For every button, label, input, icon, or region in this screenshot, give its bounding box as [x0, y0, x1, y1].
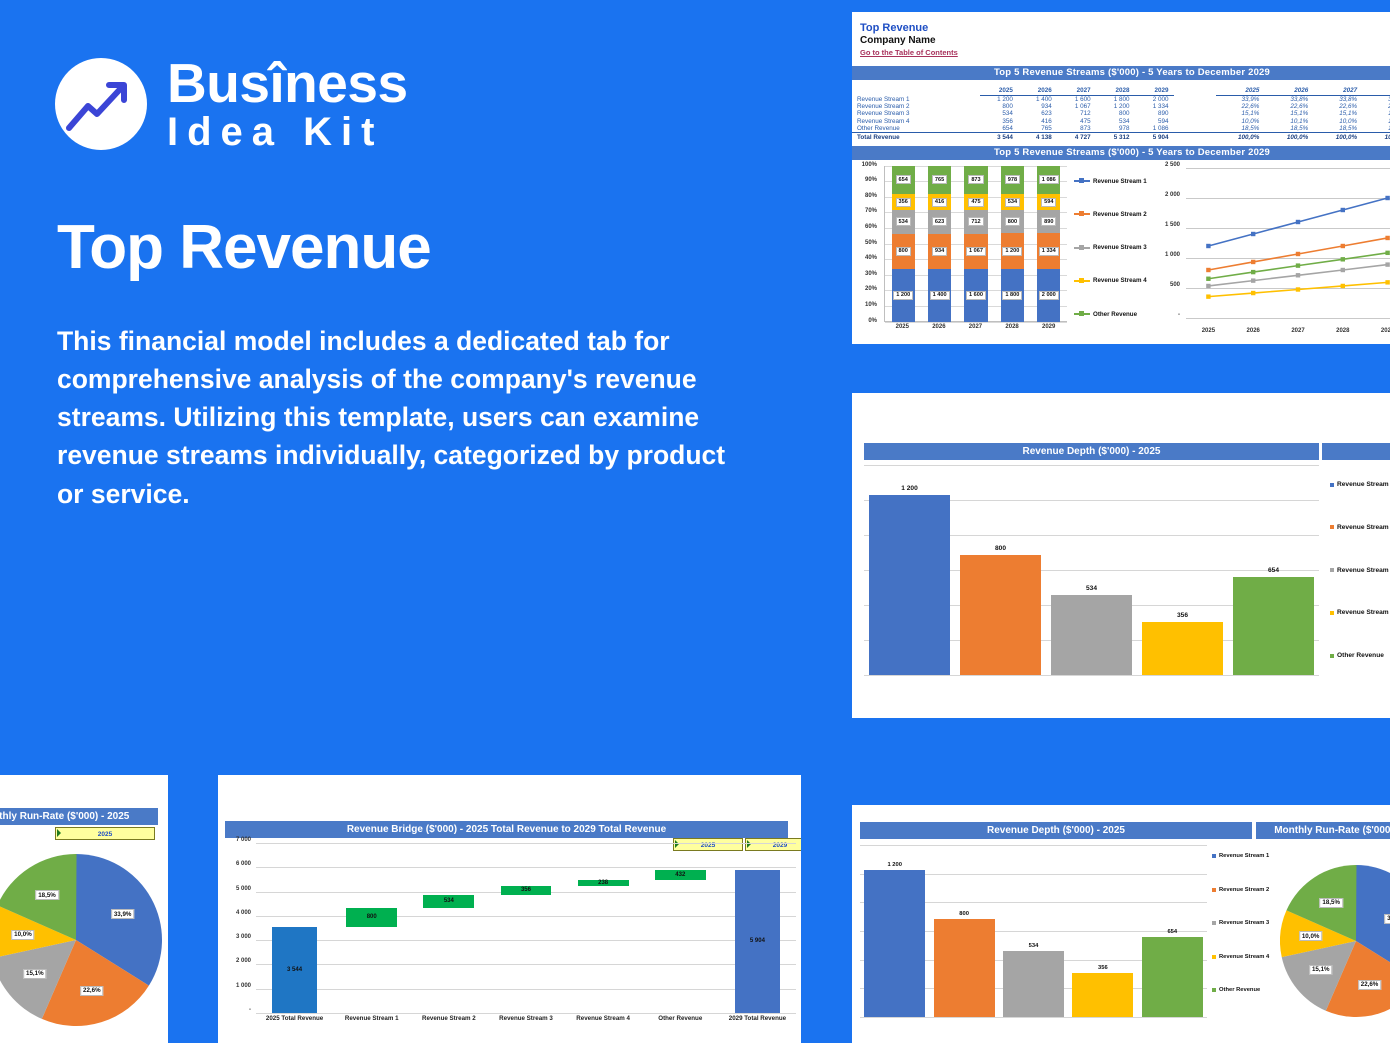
legend-label: Revenue Stream 2: [1093, 211, 1147, 218]
cell: 1 067: [1058, 103, 1097, 110]
y-tick-label: 1 500: [1165, 222, 1180, 228]
stack-segment: 873: [964, 166, 987, 195]
legend-item: Revenue Stream 3: [1212, 920, 1284, 926]
bar-value-label: 654: [1228, 567, 1319, 574]
table-row: Revenue Stream 1 1 200 1 400 1 600 1 800…: [852, 95, 1390, 103]
legend-label: Revenue Stream 4: [1337, 609, 1390, 616]
sheet-title: Top Revenue: [860, 22, 1390, 35]
y-tick-label: 10%: [865, 302, 877, 308]
stack-segment: 1 200: [892, 269, 915, 322]
segment-value-label: 2 000: [1039, 291, 1059, 300]
cell-pct: 33,9%: [1216, 95, 1265, 103]
segment-value-label: 800: [896, 247, 911, 256]
row-label: Other Revenue: [852, 125, 980, 133]
gridline: [256, 964, 796, 965]
revenue-depth-chart-mid: 1 200800534356654: [864, 465, 1319, 675]
growth-chart-arrow-icon: [55, 58, 147, 150]
table-row: Other Revenue 654 765 873 978 1 086 18,5…: [852, 125, 1390, 133]
legend-item: Revenue Stream 3: [1074, 244, 1152, 251]
bar: [1051, 595, 1131, 675]
segment-value-label: 594: [1041, 198, 1056, 207]
pie-slice-label: 10,0%: [11, 930, 35, 940]
pie-svg: [0, 854, 162, 1026]
legend-label: Other Revenue: [1219, 987, 1260, 993]
cell: 475: [1058, 118, 1097, 125]
stack-segment: 594: [1037, 194, 1060, 210]
bar-value-label: 800: [955, 545, 1046, 552]
waterfall-bar: 5 904: [735, 870, 780, 1013]
col-year: 2025: [980, 87, 1019, 96]
total-cell: 5 904: [1136, 133, 1175, 142]
y-tick-label: 40%: [865, 255, 877, 261]
waterfall-bar: 432: [655, 870, 706, 880]
x-tick-label: 2026: [1231, 328, 1276, 340]
cell: 1 334: [1136, 103, 1175, 110]
cell-pct: 22,6%: [1216, 103, 1265, 110]
legend-line-marker: [1074, 280, 1090, 282]
waterfall-value-label: 5 904: [750, 938, 765, 944]
y-tick-label: -: [1178, 312, 1180, 318]
segment-value-label: 1 067: [966, 247, 986, 256]
revenue-depth-title: Revenue Depth ($'000) - 2025: [864, 443, 1319, 460]
pie-slice-label: 33,9%: [111, 909, 135, 919]
stack-segment: 934: [928, 234, 951, 269]
x-tick-label: 2028: [994, 324, 1031, 336]
cell: 534: [1097, 118, 1136, 125]
revenue-streams-table: 2025 2026 2027 2028 2029 2025 2026 2027 …: [852, 87, 1390, 142]
legend-item: Revenue Stream 4: [1074, 277, 1152, 284]
table-header-row: 2025 2026 2027 2028 2029 2025 2026 2027 …: [852, 87, 1390, 96]
segment-value-label: 712: [968, 217, 983, 226]
y-tick-label: -: [249, 1007, 251, 1013]
y-tick-label: 80%: [865, 193, 877, 199]
cell-pct: 18,5%: [1265, 125, 1314, 133]
cell: 623: [1019, 110, 1058, 117]
stack-segment: 800: [1001, 210, 1024, 233]
cell: 978: [1097, 125, 1136, 133]
legend-swatch: [1212, 988, 1216, 992]
segment-value-label: 654: [896, 175, 911, 184]
row-label: Revenue Stream 4: [852, 118, 980, 125]
revenue-depth-legend-bottom: Revenue Stream 1Revenue Stream 2Revenue …: [1212, 853, 1284, 993]
legend-swatch: [1212, 955, 1216, 959]
revenue-bridge-title: Revenue Bridge ($'000) - 2025 Total Reve…: [225, 821, 788, 838]
total-cell-pct: 100,0%: [1314, 133, 1363, 142]
bar: [864, 870, 925, 1017]
y-tick-label: 20%: [865, 286, 877, 292]
bar: [960, 555, 1040, 675]
legend-marker-dot: [1079, 178, 1084, 183]
y-tick-label: 0%: [868, 318, 877, 324]
gridline: [860, 845, 1207, 846]
col-year: 2029: [1136, 87, 1175, 96]
stacked-chart-x-axis: 20252026202720282029: [884, 324, 1067, 336]
waterfall-value-label: 356: [521, 887, 531, 893]
legend-item: Other Revenue: [1074, 311, 1152, 318]
legend-item: Revenue Stream 1: [1074, 178, 1152, 185]
page-description: This financial model includes a dedicate…: [57, 322, 757, 513]
cell: 356: [980, 118, 1019, 125]
x-tick-label: 2027: [957, 324, 994, 336]
legend-swatch: [1330, 525, 1334, 529]
legend-swatch: [1212, 854, 1216, 858]
legend-line-marker: [1074, 313, 1090, 315]
stack-segment: 800: [892, 234, 915, 269]
panel-revenue-bridge: Revenue Bridge ($'000) - 2025 Total Reve…: [218, 775, 801, 1043]
cell: 534: [980, 110, 1019, 117]
bar: [1142, 622, 1222, 675]
gridline: [864, 675, 1319, 676]
segment-value-label: 356: [896, 198, 911, 207]
waterfall-value-label: 534: [444, 898, 454, 904]
brand-name-primary: Busîness: [167, 55, 408, 111]
stack-segment: 416: [928, 194, 951, 210]
legend-label: Other Revenue: [1093, 311, 1137, 318]
col-year: 2026: [1019, 87, 1058, 96]
cell: 1 086: [1136, 125, 1175, 133]
y-tick-label: 1 000: [236, 983, 251, 989]
x-tick-label: Revenue Stream 3: [487, 1015, 564, 1027]
cell-pct: 10,0%: [1314, 118, 1363, 125]
row-label: Revenue Stream 2: [852, 103, 980, 110]
slide-root: Busîness Idea Kit Top Revenue This finan…: [0, 0, 1390, 1043]
cell: 654: [980, 125, 1019, 133]
segment-value-label: 1 086: [1039, 175, 1059, 184]
cell: 800: [980, 103, 1019, 110]
waterfall-bar: 3 544: [272, 927, 317, 1013]
legend-item: Revenue Stream 2: [1212, 887, 1284, 893]
brand-name-secondary: Idea Kit: [167, 111, 408, 153]
x-tick-label: Revenue Stream 4: [565, 1015, 642, 1027]
monthly-run-rate-pie-left: 33,9%22,6%15,1%10,0%18,5%: [0, 854, 162, 1026]
stack-column: 1 0865948901 3342 000: [1037, 166, 1060, 322]
gridline: [1186, 318, 1390, 319]
segment-value-label: 1 200: [893, 291, 913, 300]
legend-item: Revenue Stream 4: [1330, 609, 1390, 616]
trend-line-chart: [1186, 168, 1390, 326]
gridline: [256, 940, 796, 941]
panel-monthly-run-rate-left: Monthly Run-Rate ($'000) - 2025 2025 33,…: [0, 775, 168, 1043]
cell-pct: 15,1%: [1265, 110, 1314, 117]
gridline: [256, 989, 796, 990]
legend-item: Revenue Stream 2: [1330, 524, 1390, 531]
y-tick-label: 90%: [865, 177, 877, 183]
segment-value-label: 416: [932, 198, 947, 207]
gridline: [256, 843, 796, 844]
waterfall-bar: 356: [501, 886, 552, 895]
cell: 2 000: [1136, 95, 1175, 103]
stack-segment: 534: [1001, 194, 1024, 210]
bridge-chart-x-axis: 2025 Total RevenueRevenue Stream 1Revenu…: [256, 1015, 796, 1027]
year-selector-left[interactable]: 2025: [55, 827, 155, 840]
legend-line-marker: [1074, 247, 1090, 249]
segment-value-label: 800: [1005, 217, 1020, 226]
y-tick-label: 1 000: [1165, 252, 1180, 258]
x-tick-label: Other Revenue: [642, 1015, 719, 1027]
legend-label: Revenue Stream 2: [1337, 524, 1390, 531]
x-tick-label: Revenue Stream 1: [333, 1015, 410, 1027]
segment-value-label: 534: [1005, 198, 1020, 207]
legend-item: Revenue Stream 1: [1330, 481, 1390, 488]
legend-item: Other Revenue: [1330, 652, 1390, 659]
legend-swatch: [1212, 888, 1216, 892]
revenue-bridge-waterfall-chart: 3 5448005343562384325 904: [256, 843, 796, 1013]
stack-segment: 1 334: [1037, 233, 1060, 268]
legend-label: Revenue Stream 3: [1337, 567, 1390, 574]
x-tick-label: Revenue Stream 2: [410, 1015, 487, 1027]
segment-value-label: 978: [1005, 175, 1020, 184]
y-tick-label: 2 500: [1165, 162, 1180, 168]
revenue-depth-chart-bottom: 1 200800534356654: [860, 845, 1207, 1017]
bar: [1142, 937, 1203, 1017]
page-title: Top Revenue: [57, 212, 431, 283]
cell-pct: 22,6%: [1314, 103, 1363, 110]
panel-revenue-depth: Revenue Depth ($'000) - 2025 1 200800534…: [852, 393, 1390, 718]
cell: 873: [1058, 125, 1097, 133]
legend-line-marker: [1074, 180, 1090, 182]
stack-segment: 1 600: [964, 269, 987, 322]
gridline: [256, 1013, 796, 1014]
total-cell: 3 544: [980, 133, 1019, 142]
bar-value-label: 356: [1137, 612, 1228, 619]
col-year: 2028: [1097, 87, 1136, 96]
pie-slice-label: 33,9%: [1384, 914, 1390, 924]
legend-line-marker: [1074, 213, 1090, 215]
col-pct-year: 2028: [1363, 87, 1390, 96]
y-tick-label: 100%: [862, 162, 877, 168]
legend-swatch: [1330, 611, 1334, 615]
bar: [1003, 951, 1064, 1017]
monthly-run-rate-title-right: Monthly Run-Rate ($'000): [1256, 822, 1390, 839]
x-tick-label: 2028: [1320, 328, 1365, 340]
x-tick-label: 2029: [1030, 324, 1067, 336]
legend-item: Other Revenue: [1212, 987, 1284, 993]
y-tick-label: 7 000: [236, 837, 251, 843]
col-pct-year: 2026: [1265, 87, 1314, 96]
table-band-title: Top 5 Revenue Streams ($'000) - 5 Years …: [852, 66, 1390, 80]
col-pct-year: 2027: [1314, 87, 1363, 96]
x-tick-label: 2025 Total Revenue: [256, 1015, 333, 1027]
pie-slice-label: 18,5%: [35, 890, 59, 900]
top-charts-area: 100%90%80%70%60%50%40%30%20%10%0% 654356…: [852, 160, 1390, 344]
waterfall-bar: 534: [423, 895, 474, 908]
revenue-depth-title-bottom: Revenue Depth ($'000) - 2025: [860, 822, 1252, 839]
legend-label: Revenue Stream 1: [1093, 178, 1147, 185]
legend-marker-dot: [1079, 311, 1084, 316]
cell-pct: 33,9%: [1363, 95, 1390, 103]
total-cell: 4 727: [1058, 133, 1097, 142]
cell: 1 200: [1097, 103, 1136, 110]
legend-item: Revenue Stream 2: [1074, 211, 1152, 218]
stack-segment: 978: [1001, 166, 1024, 195]
segment-value-label: 765: [932, 175, 947, 184]
line-chart-legend: Revenue Stream 1Revenue Stream 2Revenue …: [1074, 178, 1152, 318]
stack-segment: 890: [1037, 210, 1060, 234]
cell-pct: 18,4%: [1363, 125, 1390, 133]
x-tick-label: 2025: [884, 324, 921, 336]
cell: 594: [1136, 118, 1175, 125]
stack-segment: 1 400: [928, 269, 951, 322]
bar-value-label: 800: [929, 911, 998, 917]
y-tick-label: 4 000: [236, 910, 251, 916]
total-cell: 4 138: [1019, 133, 1058, 142]
legend-label: Revenue Stream 4: [1219, 954, 1269, 960]
bar-value-label: 534: [999, 943, 1068, 949]
segment-value-label: 873: [968, 175, 983, 184]
legend-label: Revenue Stream 2: [1219, 887, 1269, 893]
gridline: [885, 322, 1067, 323]
x-tick-label: 2026: [921, 324, 958, 336]
pie-slice-label: 15,1%: [23, 969, 47, 979]
cell-pct: 15,1%: [1363, 110, 1390, 117]
cell-pct: 10,1%: [1265, 118, 1314, 125]
segment-value-label: 534: [896, 217, 911, 226]
y-tick-label: 6 000: [236, 861, 251, 867]
line-chart-x-axis: 20252026202720282029: [1186, 328, 1390, 340]
segment-value-label: 1 600: [966, 291, 986, 300]
line-chart-y-axis: 2 5002 0001 5001 000500-: [1152, 166, 1182, 328]
sheet-subtitle: Company Name: [860, 35, 1390, 47]
revenue-depth-legend-mid: Revenue Stream 1Revenue Stream 2Revenue …: [1330, 481, 1390, 659]
monthly-run-rate-pie-right: 33,9%22,6%15,1%10,0%18,5%: [1280, 865, 1390, 1017]
gridline: [256, 916, 796, 917]
table-row: Revenue Stream 4 356 416 475 534 594 10,…: [852, 118, 1390, 125]
legend-label: Revenue Stream 3: [1093, 244, 1147, 251]
cell-pct: 33,8%: [1265, 95, 1314, 103]
waterfall-value-label: 3 544: [287, 967, 302, 973]
chart-band-title: Top 5 Revenue Streams ($'000) - 5 Years …: [852, 146, 1390, 160]
legend-marker-dot: [1079, 245, 1084, 250]
y-tick-label: 2 000: [1165, 192, 1180, 198]
stack-segment: 2 000: [1037, 269, 1060, 322]
cell: 1 400: [1019, 95, 1058, 103]
gridline: [256, 867, 796, 868]
cell-pct: 22,6%: [1265, 103, 1314, 110]
cell-pct: 10,1%: [1363, 118, 1390, 125]
y-tick-label: 5 000: [236, 886, 251, 892]
segment-value-label: 1 200: [1002, 247, 1022, 256]
stack-column: 9785348001 2001 800: [1001, 166, 1024, 322]
x-tick-label: 2029 Total Revenue: [719, 1015, 796, 1027]
y-tick-label: 50%: [865, 240, 877, 246]
stacked-100-bar-chart: 6543565348001 2007654166239341 400873475…: [884, 166, 1067, 322]
segment-value-label: 890: [1041, 217, 1056, 226]
panel-top-revenue-sheet: Top Revenue Company Name Go to the Table…: [852, 12, 1390, 344]
stack-segment: 1 067: [964, 234, 987, 269]
pie-slice-label: 22,6%: [1358, 980, 1382, 990]
legend-label: Revenue Stream 3: [1219, 920, 1269, 926]
gridline: [860, 1017, 1207, 1018]
stacked-chart-y-axis: 100%90%80%70%60%50%40%30%20%10%0%: [854, 166, 880, 334]
legend-label: Revenue Stream 1: [1337, 481, 1390, 488]
cell-pct: 10,0%: [1216, 118, 1265, 125]
row-label: Revenue Stream 1: [852, 95, 980, 103]
legend-marker-dot: [1079, 278, 1084, 283]
legend-item: Revenue Stream 3: [1330, 567, 1390, 574]
total-cell: 5 312: [1097, 133, 1136, 142]
revenue-depth-title-spacer: [1322, 443, 1390, 460]
pie-svg: [1280, 865, 1390, 1017]
cell: 800: [1097, 110, 1136, 117]
legend-swatch: [1330, 654, 1334, 658]
legend-label: Revenue Stream 4: [1093, 277, 1147, 284]
bar-value-label: 654: [1138, 929, 1207, 935]
legend-label: Revenue Stream 1: [1219, 853, 1269, 859]
legend-item: Revenue Stream 1: [1212, 853, 1284, 859]
stack-segment: 356: [892, 194, 915, 210]
cell-pct: 18,5%: [1216, 125, 1265, 133]
table-row: Revenue Stream 3 534 623 712 800 890 15,…: [852, 110, 1390, 117]
y-tick-label: 2 000: [236, 958, 251, 964]
cell: 765: [1019, 125, 1058, 133]
stack-segment: 765: [928, 166, 951, 195]
line-series-svg: [1186, 168, 1390, 318]
legend-label: Other Revenue: [1337, 652, 1384, 659]
pie-slice-label: 22,6%: [80, 986, 104, 996]
stack-segment: 712: [964, 210, 987, 233]
stack-segment: 654: [892, 166, 915, 195]
waterfall-value-label: 800: [367, 914, 377, 920]
x-tick-label: 2029: [1365, 328, 1390, 340]
bar: [934, 919, 995, 1017]
stack-column: 8734757121 0671 600: [964, 166, 987, 322]
x-tick-label: 2027: [1276, 328, 1321, 340]
pie-slice-label: 15,1%: [1309, 965, 1333, 975]
stack-segment: 475: [964, 194, 987, 210]
bar-value-label: 1 200: [864, 485, 955, 492]
panel-revenue-depth-and-run-rate: Revenue Depth ($'000) - 2025 Monthly Run…: [852, 805, 1390, 1043]
bridge-chart-y-axis: 7 0006 0005 0004 0003 0002 0001 000-: [220, 841, 254, 1017]
stack-segment: 1 086: [1037, 166, 1060, 195]
table-total-row: Total Revenue 3 544 4 138 4 727 5 312 5 …: [852, 133, 1390, 142]
pie-slice-label: 10,0%: [1299, 931, 1323, 941]
cell: 890: [1136, 110, 1175, 117]
legend-item: Revenue Stream 4: [1212, 954, 1284, 960]
stack-segment: 534: [892, 210, 915, 234]
stack-column: 7654166239341 400: [928, 166, 951, 322]
y-tick-label: 30%: [865, 271, 877, 277]
legend-marker-dot: [1079, 211, 1084, 216]
segment-value-label: 1 400: [930, 291, 950, 300]
cell-pct: 22,6%: [1363, 103, 1390, 110]
waterfall-value-label: 432: [675, 872, 685, 878]
cell: 712: [1058, 110, 1097, 117]
y-tick-label: 3 000: [236, 934, 251, 940]
col-year: 2027: [1058, 87, 1097, 96]
pie-slice-label: 18,5%: [1319, 898, 1343, 908]
gridline: [864, 465, 1319, 466]
row-label: Revenue Stream 3: [852, 110, 980, 117]
stack-column: 6543565348001 200: [892, 166, 915, 322]
y-tick-label: 70%: [865, 208, 877, 214]
cell: 1 800: [1097, 95, 1136, 103]
bar: [1233, 577, 1313, 675]
total-cell-pct: 100,0%: [1265, 133, 1314, 142]
table-row: Revenue Stream 2 800 934 1 067 1 200 1 3…: [852, 103, 1390, 110]
brand-lockup: Busîness Idea Kit: [55, 55, 408, 153]
segment-value-label: 934: [932, 247, 947, 256]
bar: [1072, 973, 1133, 1017]
table-of-contents-link[interactable]: Go to the Table of Contents: [860, 47, 1390, 59]
cell-pct: 15,1%: [1216, 110, 1265, 117]
legend-swatch: [1212, 921, 1216, 925]
segment-value-label: 1 334: [1039, 247, 1059, 256]
cell: 1 600: [1058, 95, 1097, 103]
total-label: Total Revenue: [852, 133, 980, 142]
cell-pct: 33,8%: [1314, 95, 1363, 103]
waterfall-bar: 800: [346, 908, 397, 927]
cell: 934: [1019, 103, 1058, 110]
